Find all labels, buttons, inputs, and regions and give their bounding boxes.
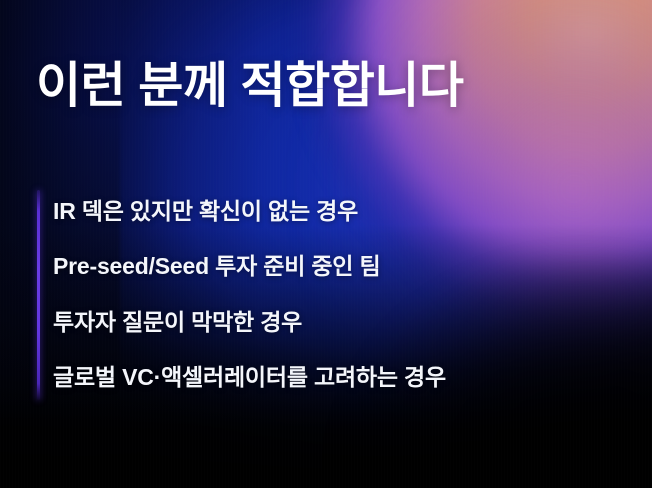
list-item: IR 덱은 있지만 확신이 없는 경우 (53, 196, 627, 226)
bullet-items-group: IR 덱은 있지만 확신이 없는 경우 Pre-seed/Seed 투자 준비 … (53, 190, 627, 400)
list-item: 글로벌 VC·액셀러레이터를 고려하는 경우 (53, 362, 627, 392)
list-item: Pre-seed/Seed 투자 준비 중인 팀 (53, 251, 627, 281)
page-title: 이런 분께 적합합니다 (36, 55, 463, 117)
bullet-list: IR 덱은 있지만 확신이 없는 경우 Pre-seed/Seed 투자 준비 … (37, 190, 627, 400)
slide-canvas: 이런 분께 적합합니다 IR 덱은 있지만 확신이 없는 경우 Pre-seed… (0, 0, 652, 488)
accent-vertical-rule (37, 190, 40, 400)
slide-content: 이런 분께 적합합니다 IR 덱은 있지만 확신이 없는 경우 Pre-seed… (0, 0, 652, 488)
list-item: 투자자 질문이 막막한 경우 (53, 307, 627, 337)
